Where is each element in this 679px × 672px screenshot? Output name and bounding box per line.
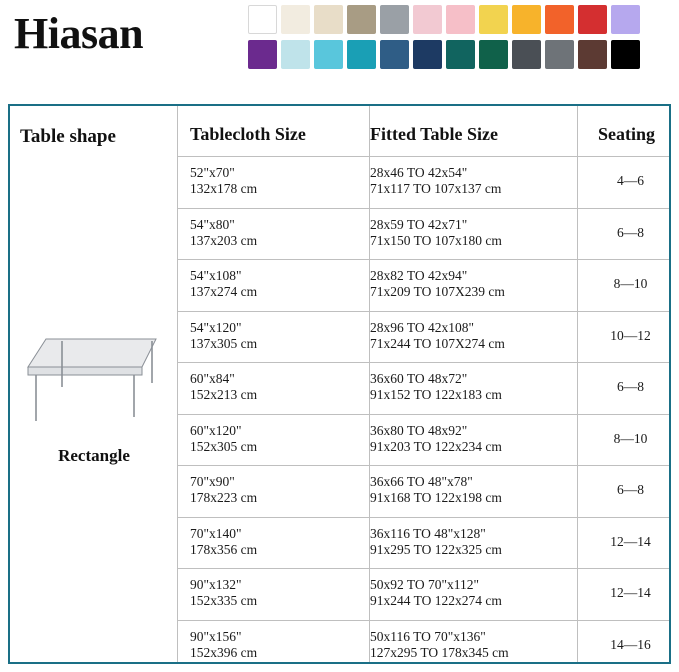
swatch-golden-yellow[interactable]	[512, 5, 541, 34]
swatch-white[interactable]	[248, 5, 277, 34]
table-row: 70"x140" 178x356 cm 36x116 TO 48"x128" 9…	[178, 517, 669, 569]
cell-seating: 6—8	[578, 482, 679, 498]
column-header-fitted: Fitted Table Size	[370, 124, 498, 145]
column-header-tablecloth: Tablecloth Size	[190, 124, 306, 145]
swatch-dark-gray[interactable]	[545, 40, 574, 69]
swatch-navy[interactable]	[413, 40, 442, 69]
table-shape-column: Table shape Rectangle	[10, 106, 178, 662]
cell-tablecloth-size: 54"x120" 137x305 cm	[190, 320, 257, 352]
swatch-ivory[interactable]	[281, 5, 310, 34]
cell-seating: 10—12	[578, 328, 679, 344]
swatch-blush[interactable]	[446, 5, 475, 34]
swatch-purple[interactable]	[248, 40, 277, 69]
cell-seating: 8—10	[578, 276, 679, 292]
cell-fitted-size: 36x66 TO 48"x78" 91x168 TO 122x198 cm	[370, 474, 502, 506]
cell-tablecloth-size: 52"x70" 132x178 cm	[190, 165, 257, 197]
cell-fitted-size: 50x116 TO 70"x136" 127x295 TO 178x345 cm	[370, 629, 509, 661]
column-divider-1	[177, 106, 178, 662]
swatch-pale-blue[interactable]	[281, 40, 310, 69]
cell-seating: 8—10	[578, 431, 679, 447]
table-shape-label: Rectangle	[10, 446, 178, 466]
cell-tablecloth-size: 60"x120" 152x305 cm	[190, 423, 257, 455]
table-column-headers: Tablecloth Size Fitted Table Size Seatin…	[178, 106, 669, 156]
table-row: 90"x132" 152x335 cm 50x92 TO 70"x112" 91…	[178, 568, 669, 620]
cell-tablecloth-size: 90"x132" 152x335 cm	[190, 577, 257, 609]
table-row: 54"x80" 137x203 cm 28x59 TO 42x71" 71x15…	[178, 208, 669, 260]
table-row: 90"x156" 152x396 cm 50x116 TO 70"x136" 1…	[178, 620, 669, 672]
cell-fitted-size: 36x60 TO 48x72" 91x152 TO 122x183 cm	[370, 371, 502, 403]
cell-seating: 12—14	[578, 585, 679, 601]
swatch-forest-green[interactable]	[479, 40, 508, 69]
swatch-lavender[interactable]	[611, 5, 640, 34]
brand-logo: Hiasan	[14, 8, 143, 59]
rectangle-table-icon	[16, 321, 172, 431]
swatch-orange[interactable]	[545, 5, 574, 34]
column-header-seating: Seating	[598, 124, 655, 145]
swatch-black[interactable]	[611, 40, 640, 69]
cell-fitted-size: 28x96 TO 42x108" 71x244 TO 107X274 cm	[370, 320, 505, 352]
table-row: 60"x120" 152x305 cm 36x80 TO 48x92" 91x2…	[178, 414, 669, 466]
swatch-light-pink[interactable]	[413, 5, 442, 34]
cell-seating: 6—8	[578, 225, 679, 241]
cell-fitted-size: 28x82 TO 42x94" 71x209 TO 107X239 cm	[370, 268, 505, 300]
cell-tablecloth-size: 70"x90" 178x223 cm	[190, 474, 257, 506]
cell-seating: 12—14	[578, 534, 679, 550]
cell-fitted-size: 36x80 TO 48x92" 91x203 TO 122x234 cm	[370, 423, 502, 455]
table-row: 54"x108" 137x274 cm 28x82 TO 42x94" 71x2…	[178, 259, 669, 311]
swatch-steel-blue[interactable]	[380, 40, 409, 69]
column-divider-2	[369, 106, 370, 662]
table-row: 52"x70" 132x178 cm 28x46 TO 42x54" 71x11…	[178, 156, 669, 208]
table-shape-header: Table shape	[20, 126, 116, 148]
swatch-beige[interactable]	[314, 5, 343, 34]
swatch-red[interactable]	[578, 5, 607, 34]
cell-tablecloth-size: 54"x80" 137x203 cm	[190, 217, 257, 249]
swatch-brown[interactable]	[578, 40, 607, 69]
size-chart-card: Table shape Rectangle Tablecloth Size Fi…	[8, 104, 671, 664]
swatch-gray[interactable]	[380, 5, 409, 34]
swatch-dark-teal[interactable]	[446, 40, 475, 69]
swatch-taupe[interactable]	[347, 5, 376, 34]
swatch-row-1	[248, 5, 672, 34]
cell-fitted-size: 50x92 TO 70"x112" 91x244 TO 122x274 cm	[370, 577, 502, 609]
page-header: Hiasan	[0, 0, 679, 96]
cell-tablecloth-size: 54"x108" 137x274 cm	[190, 268, 257, 300]
cell-tablecloth-size: 70"x140" 178x356 cm	[190, 526, 257, 558]
header-divider	[178, 156, 669, 157]
swatch-yellow[interactable]	[479, 5, 508, 34]
table-row: 70"x90" 178x223 cm 36x66 TO 48"x78" 91x1…	[178, 465, 669, 517]
color-swatch-grid	[248, 5, 672, 75]
cell-seating: 14—16	[578, 637, 679, 653]
table-row: 54"x120" 137x305 cm 28x96 TO 42x108" 71x…	[178, 311, 669, 363]
cell-fitted-size: 28x59 TO 42x71" 71x150 TO 107x180 cm	[370, 217, 502, 249]
size-table: Tablecloth Size Fitted Table Size Seatin…	[178, 106, 669, 662]
cell-fitted-size: 36x116 TO 48"x128" 91x295 TO 122x325 cm	[370, 526, 502, 558]
swatch-sky-blue[interactable]	[314, 40, 343, 69]
swatch-teal[interactable]	[347, 40, 376, 69]
table-row: 60"x84" 152x213 cm 36x60 TO 48x72" 91x15…	[178, 362, 669, 414]
cell-tablecloth-size: 60"x84" 152x213 cm	[190, 371, 257, 403]
cell-seating: 4—6	[578, 173, 679, 189]
cell-fitted-size: 28x46 TO 42x54" 71x117 TO 107x137 cm	[370, 165, 501, 197]
cell-seating: 6—8	[578, 379, 679, 395]
swatch-row-2	[248, 40, 672, 69]
swatch-charcoal[interactable]	[512, 40, 541, 69]
column-divider-3	[577, 106, 578, 662]
cell-tablecloth-size: 90"x156" 152x396 cm	[190, 629, 257, 661]
